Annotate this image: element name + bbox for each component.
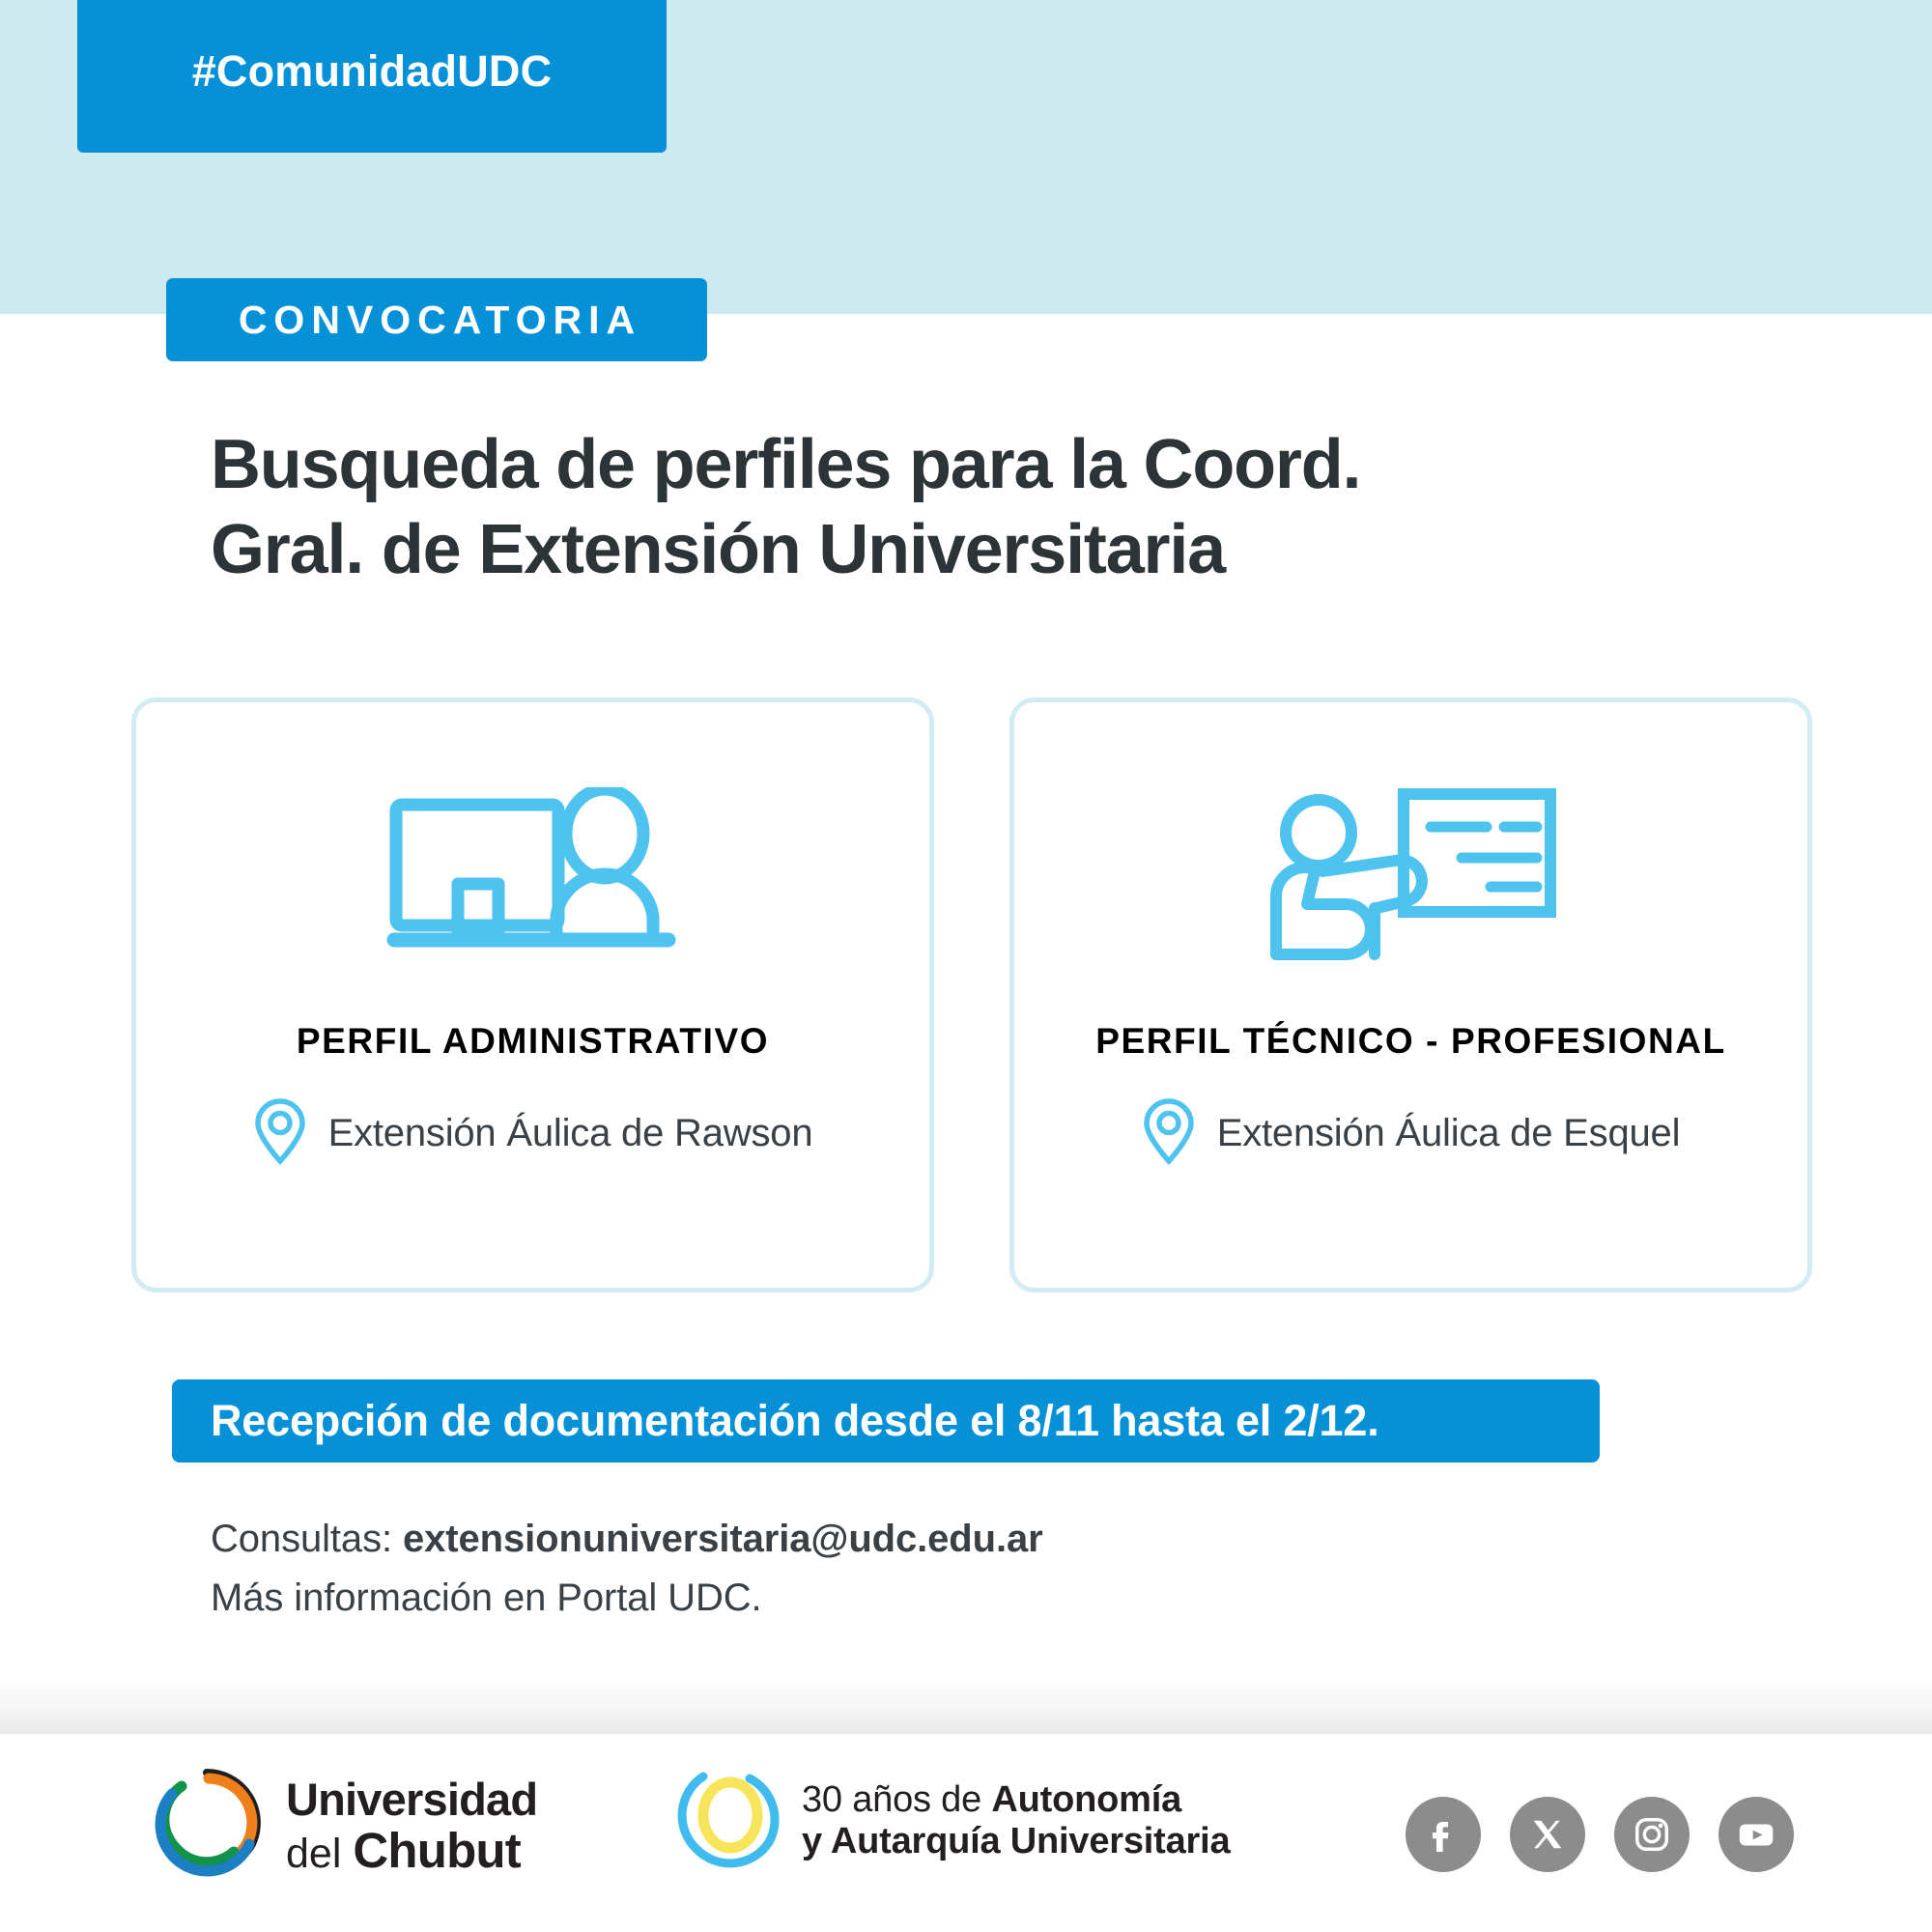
anniversary-line-1: 30 años de Autonomía — [802, 1779, 1230, 1821]
contact-email-address[interactable]: extensionuniversitaria@udc.edu.ar — [403, 1518, 1043, 1560]
university-name-chubut: Chubut — [353, 1823, 521, 1878]
map-pin-icon — [253, 1096, 307, 1171]
anniversary-line-1-thin: 30 años de — [802, 1779, 991, 1820]
profile-card-location: Extensión Áulica de Rawson — [253, 1096, 813, 1171]
anniversary-line-2: y Autarquía Universitaria — [802, 1821, 1230, 1862]
university-logo: Universidad del Chubut — [145, 1761, 537, 1889]
profile-card-administrative[interactable]: PERFIL ADMINISTRATIVO Extensión Áulica d… — [131, 697, 934, 1293]
university-wordmark: Universidad del Chubut — [286, 1776, 537, 1875]
udc-ring-logo — [145, 1761, 269, 1889]
social-links — [1406, 1797, 1794, 1872]
instagram-icon[interactable] — [1614, 1797, 1690, 1872]
deadline-banner: Recepción de documentación desde el 8/11… — [172, 1379, 1600, 1463]
contact-email-line: Consultas: extensionuniversitaria@udc.ed… — [211, 1510, 1043, 1569]
deadline-text: Recepción de documentación desde el 8/11… — [172, 1396, 1379, 1446]
profile-card-heading: PERFIL TÉCNICO - PROFESIONAL — [1095, 1021, 1726, 1062]
university-name-line-1: Universidad — [286, 1776, 537, 1822]
page-title-line-1: Busqueda de perfiles para la Coord. — [211, 423, 1776, 508]
teacher-board-icon — [1257, 778, 1566, 971]
anniversary-wordmark: 30 años de Autonomía y Autarquía Univers… — [802, 1779, 1230, 1861]
profile-card-technical[interactable]: PERFIL TÉCNICO - PROFESIONAL Extensión Á… — [1009, 697, 1812, 1293]
contact-email-prefix: Consultas: — [211, 1518, 403, 1560]
convocatoria-label: CONVOCATORIA — [232, 298, 641, 343]
anniversary-line-1-bold: Autonomía — [991, 1779, 1181, 1820]
anniversary-logo: 30 años de Autonomía y Autarquía Univers… — [676, 1765, 1230, 1876]
profile-card-location: Extensión Áulica de Esquel — [1142, 1096, 1681, 1171]
facebook-icon[interactable] — [1406, 1797, 1481, 1872]
university-name-line-2: del Chubut — [286, 1826, 537, 1875]
page-title-line-2: Gral. de Extensión Universitaria — [211, 508, 1776, 593]
convocatoria-badge: CONVOCATORIA — [166, 278, 707, 361]
desk-worker-icon — [379, 778, 688, 971]
profile-card-location-text: Extensión Áulica de Rawson — [328, 1112, 813, 1155]
profile-card-heading: PERFIL ADMINISTRATIVO — [297, 1021, 769, 1062]
profile-card-location-text: Extensión Áulica de Esquel — [1217, 1112, 1681, 1155]
contact-more-info: Más información en Portal UDC. — [211, 1569, 1043, 1628]
profile-cards: PERFIL ADMINISTRATIVO Extensión Áulica d… — [131, 697, 1812, 1293]
youtube-icon[interactable] — [1719, 1797, 1794, 1872]
hashtag-chip: #ComunidadUDC — [77, 0, 667, 153]
hashtag-label: #ComunidadUDC — [192, 46, 553, 97]
map-pin-icon — [1142, 1096, 1196, 1171]
page-title: Busqueda de perfiles para la Coord. Gral… — [211, 423, 1776, 593]
x-twitter-icon[interactable] — [1510, 1797, 1585, 1872]
contact-block: Consultas: extensionuniversitaria@udc.ed… — [211, 1510, 1043, 1628]
university-name-del: del — [286, 1831, 353, 1877]
footer-divider — [0, 1676, 1932, 1734]
anniversary-ring-logo — [676, 1765, 782, 1876]
